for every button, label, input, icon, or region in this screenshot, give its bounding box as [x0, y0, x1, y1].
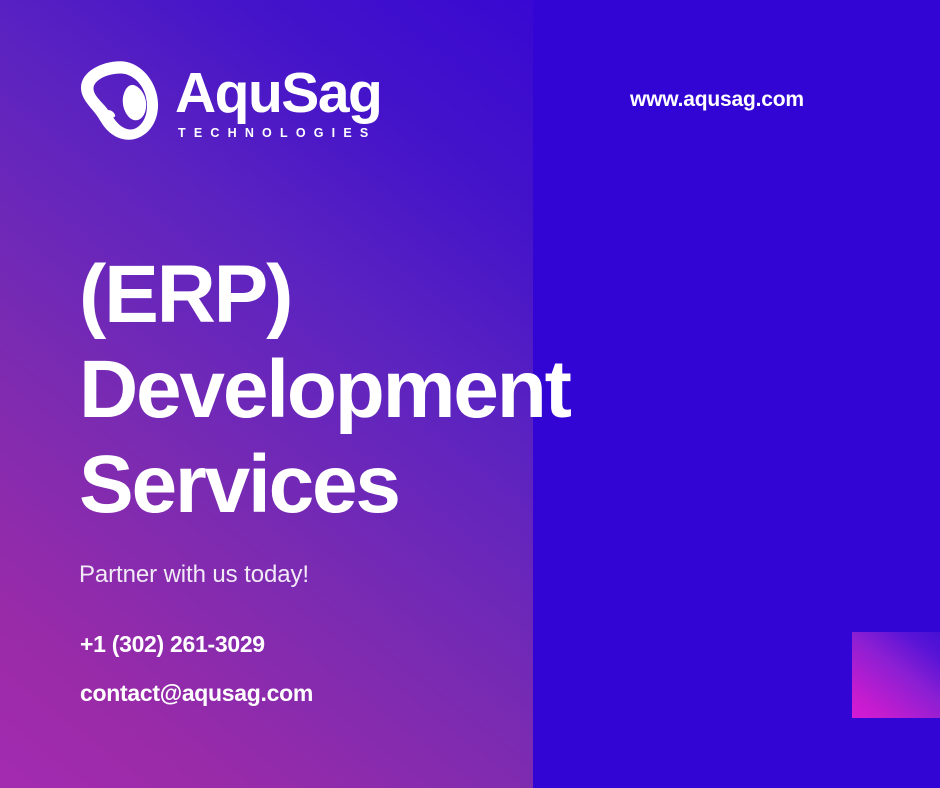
decorative-gradient-square — [852, 632, 940, 718]
headline-line-3: Services — [79, 437, 679, 532]
headline-line-1: (ERP) — [79, 247, 679, 342]
contact-email[interactable]: contact@aqusag.com — [80, 680, 313, 707]
headline-line-2: Development — [79, 342, 679, 437]
promotional-banner: AquSag TECHNOLOGIES www.aqusag.com (ERP)… — [0, 0, 940, 788]
aqusag-loop-logo-icon — [79, 58, 161, 146]
website-url[interactable]: www.aqusag.com — [630, 88, 804, 112]
logo-subtitle: TECHNOLOGIES — [175, 126, 381, 140]
contact-phone[interactable]: +1 (302) 261-3029 — [80, 631, 265, 658]
call-to-action-text: Partner with us today! — [79, 561, 309, 589]
page-title: (ERP) Development Services — [79, 247, 679, 532]
brand-logo[interactable]: AquSag TECHNOLOGIES — [79, 58, 381, 146]
logo-wordmark: AquSag — [175, 66, 381, 120]
logo-wordmark-block: AquSag TECHNOLOGIES — [175, 64, 381, 140]
